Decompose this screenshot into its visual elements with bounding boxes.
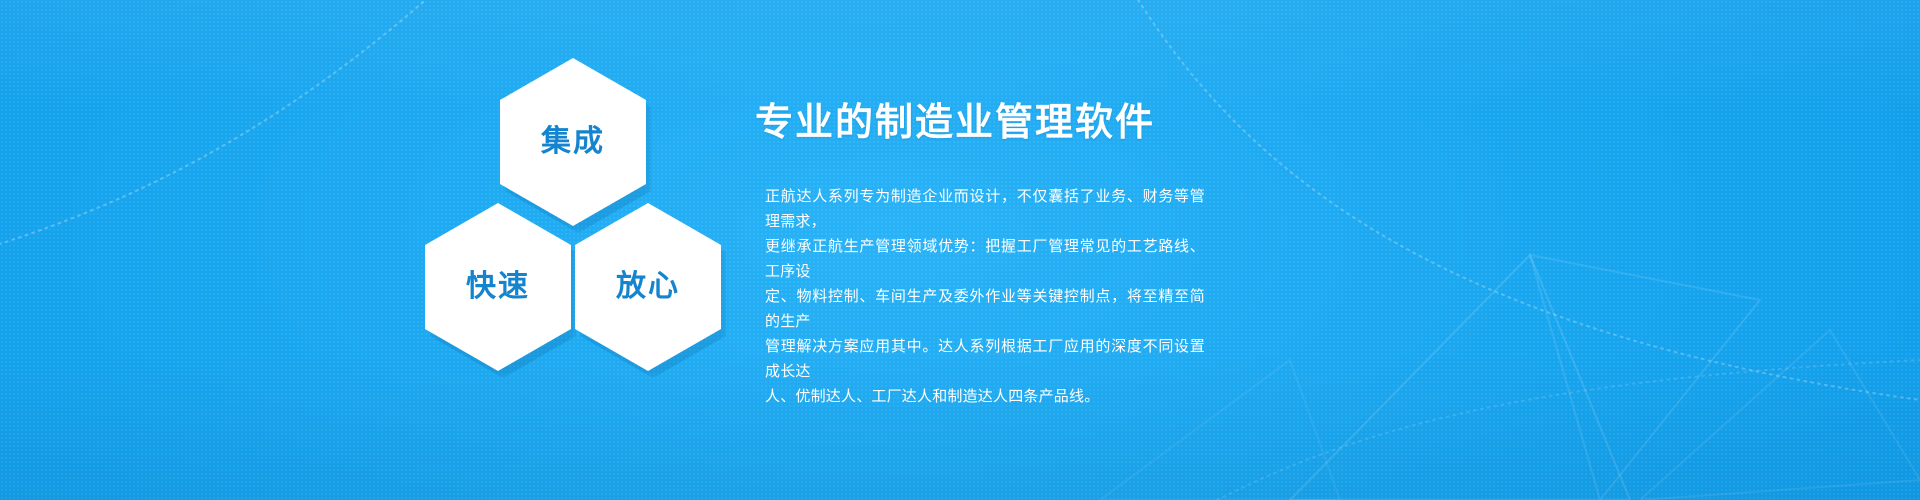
hexagon-label-reliable: 放心 — [616, 272, 680, 302]
page-title: 专业的制造业管理软件 — [755, 100, 1375, 148]
hexagon-cluster: 集成 快速 放心 — [415, 58, 725, 328]
description-line: 定、物料控制、车间生产及委外作业等关键控制点，将至精至简的生产 — [765, 284, 1205, 334]
hexagon-label-fast: 快速 — [466, 272, 530, 302]
description-line: 更继承正航生产管理领域优势：把握工厂管理常见的工艺路线、工序设 — [765, 234, 1205, 284]
copy-block: 专业的制造业管理软件 正航达人系列专为制造企业而设计，不仅囊括了业务、财务等管理… — [755, 100, 1375, 409]
description-line: 正航达人系列专为制造企业而设计，不仅囊括了业务、财务等管理需求， — [765, 184, 1205, 234]
description-paragraph: 正航达人系列专为制造企业而设计，不仅囊括了业务、财务等管理需求， 更继承正航生产… — [765, 184, 1205, 409]
description-line: 管理解决方案应用其中。达人系列根据工厂应用的深度不同设置成长达 — [765, 334, 1205, 384]
hexagon-label-integration: 集成 — [541, 127, 605, 157]
description-line: 人、优制达人、工厂达人和制造达人四条产品线。 — [765, 384, 1205, 409]
hero-banner: 集成 快速 放心 专业的制造业管理软件 正航达人系列专为制造企业而设计，不仅囊括… — [0, 0, 1920, 500]
